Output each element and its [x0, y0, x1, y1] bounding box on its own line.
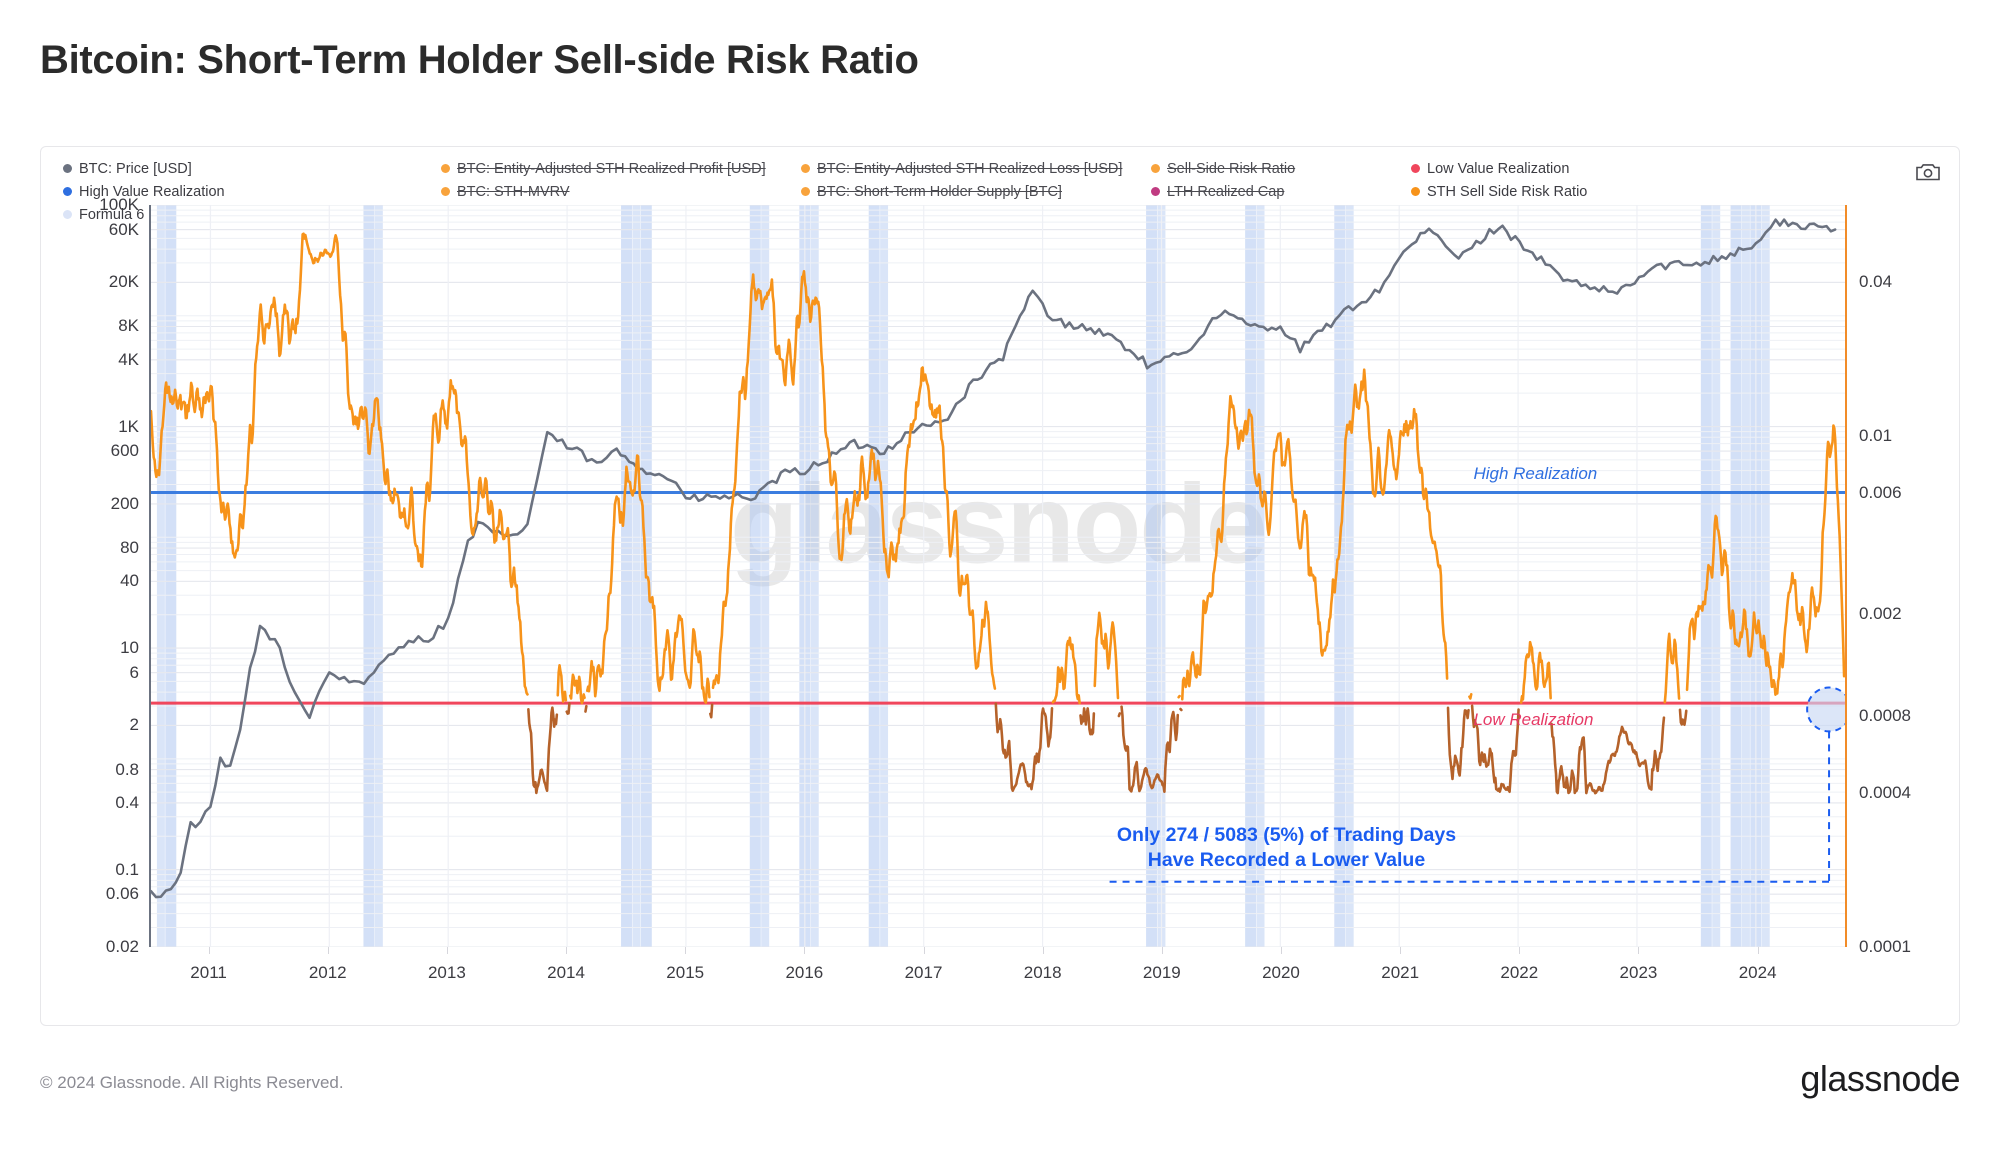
- x-axis-tick-mark: [924, 947, 925, 954]
- x-axis-tick: 2013: [428, 963, 466, 983]
- chart-page: Bitcoin: Short-Term Holder Sell-side Ris…: [0, 0, 2000, 1152]
- x-axis-tick: 2019: [1143, 963, 1181, 983]
- y-axis-right-tick: 0.006: [1859, 483, 1902, 503]
- highlight-band: [1245, 205, 1256, 947]
- y-axis-left-tick: 0.06: [106, 884, 139, 904]
- y-axis-left-tick: 200: [111, 494, 139, 514]
- chart-card: BTC: Price [USD]High Value RealizationFo…: [40, 146, 1960, 1026]
- y-axis-right-tick: 0.0004: [1859, 783, 1911, 803]
- x-axis-tick: 2015: [666, 963, 704, 983]
- x-axis-tick: 2012: [309, 963, 347, 983]
- plot-area: glassnode 100K60K20K8K4K1K60020080401062…: [149, 205, 1847, 947]
- y-axis-left-tick: 0.4: [115, 793, 139, 813]
- legend-swatch-icon: [63, 187, 72, 196]
- highlight-band: [1146, 205, 1157, 947]
- legend-item[interactable]: STH Sell Side Risk Ratio: [1411, 180, 1587, 203]
- x-axis-tick-mark: [1400, 947, 1401, 954]
- legend-swatch-icon: [441, 164, 450, 173]
- x-axis-tick: 2021: [1381, 963, 1419, 983]
- y-axis-left-tick: 1K: [118, 417, 139, 437]
- y-axis-left-tick: 0.8: [115, 760, 139, 780]
- x-axis-tick-mark: [1638, 947, 1639, 954]
- y-axis-left-tick: 6: [130, 663, 139, 683]
- x-axis-tick: 2022: [1500, 963, 1538, 983]
- footer-copyright: © 2024 Glassnode. All Rights Reserved.: [40, 1073, 344, 1093]
- legend-item[interactable]: BTC: Short-Term Holder Supply [BTC]: [801, 180, 1122, 203]
- legend-item[interactable]: LTH Realized Cap: [1151, 180, 1295, 203]
- legend-swatch-icon: [63, 164, 72, 173]
- y-axis-left-tick: 20K: [109, 272, 139, 292]
- highlight-band: [363, 205, 374, 947]
- legend-item-label: Sell-Side Risk Ratio: [1167, 161, 1295, 177]
- highlight-band: [880, 205, 888, 947]
- legend-item[interactable]: High Value Realization: [63, 180, 225, 203]
- latest-value-marker: [1807, 688, 1845, 732]
- x-axis-tick-mark: [1281, 947, 1282, 954]
- x-axis-tick-mark: [685, 947, 686, 954]
- x-axis-tick: 2023: [1620, 963, 1658, 983]
- x-axis-tick-mark: [1519, 947, 1520, 954]
- y-axis-right-tick: 0.04: [1859, 272, 1892, 292]
- x-axis-tick: 2018: [1024, 963, 1062, 983]
- legend-swatch-icon: [1411, 164, 1420, 173]
- legend-item[interactable]: BTC: Entity-Adjusted STH Realized Profit…: [441, 157, 766, 180]
- y-axis-right-tick: 0.01: [1859, 426, 1892, 446]
- page-title: Bitcoin: Short-Term Holder Sell-side Ris…: [40, 38, 919, 83]
- legend-swatch-icon: [801, 164, 810, 173]
- legend-item-label: Low Value Realization: [1427, 161, 1569, 177]
- y-axis-left-tick: 0.02: [106, 937, 139, 957]
- chart-legend: BTC: Price [USD]High Value RealizationFo…: [41, 147, 1959, 203]
- legend-item-label: BTC: Short-Term Holder Supply [BTC]: [817, 184, 1062, 200]
- legend-swatch-icon: [441, 187, 450, 196]
- legend-item[interactable]: BTC: STH-MVRV: [441, 180, 766, 203]
- x-axis-tick: 2024: [1739, 963, 1777, 983]
- legend-item[interactable]: Sell-Side Risk Ratio: [1151, 157, 1295, 180]
- x-axis-tick: 2014: [547, 963, 585, 983]
- camera-icon[interactable]: [1915, 161, 1941, 183]
- legend-item-label: STH Sell Side Risk Ratio: [1427, 184, 1587, 200]
- x-axis-tick-mark: [1162, 947, 1163, 954]
- highlight-band: [761, 205, 769, 947]
- legend-swatch-icon: [801, 187, 810, 196]
- chart-svg: [151, 205, 1845, 947]
- y-axis-left-tick: 40: [120, 571, 139, 591]
- legend-item[interactable]: BTC: Price [USD]: [63, 157, 225, 180]
- legend-item[interactable]: BTC: Entity-Adjusted STH Realized Loss […: [801, 157, 1122, 180]
- legend-swatch-icon: [1151, 187, 1160, 196]
- highlight-band: [1762, 205, 1770, 947]
- x-axis-tick-mark: [447, 947, 448, 954]
- highlight-band: [165, 205, 176, 947]
- y-axis-left-tick: 60K: [109, 220, 139, 240]
- legend-item-label: BTC: STH-MVRV: [457, 184, 570, 200]
- x-axis-tick: 2011: [190, 963, 227, 983]
- y-axis-left-tick: 600: [111, 441, 139, 461]
- y-axis-left-tick: 4K: [118, 350, 139, 370]
- x-axis-tick-mark: [804, 947, 805, 954]
- highlight-band: [157, 205, 165, 947]
- series-sth-risk-ratio: [151, 234, 1844, 703]
- y-axis-right-tick: 0.0008: [1859, 706, 1911, 726]
- highlight-band: [621, 205, 632, 947]
- y-axis-left-tick: 0.1: [115, 860, 139, 880]
- highlight-band: [632, 205, 640, 947]
- y-axis-right-tick: 0.002: [1859, 604, 1902, 624]
- glassnode-logo: glassnode: [1800, 1058, 1960, 1100]
- y-axis-left-tick: 100K: [99, 195, 139, 215]
- highlight-band: [1742, 205, 1750, 947]
- y-axis-left-tick: 10: [120, 638, 139, 658]
- y-axis-right-tick: 0.0001: [1859, 937, 1911, 957]
- series-sth-risk-ratio-low: [528, 703, 1845, 793]
- x-axis-tick-mark: [1758, 947, 1759, 954]
- highlight-band: [1731, 205, 1742, 947]
- plot-canvas: glassnode: [149, 205, 1847, 947]
- x-axis-tick: 2020: [1262, 963, 1300, 983]
- x-axis-tick-mark: [209, 947, 210, 954]
- legend-item-label: LTH Realized Cap: [1167, 184, 1284, 200]
- legend-swatch-icon: [1411, 187, 1420, 196]
- legend-item-label: BTC: Entity-Adjusted STH Realized Loss […: [817, 161, 1122, 177]
- highlight-band: [375, 205, 383, 947]
- x-axis-tick: 2016: [785, 963, 823, 983]
- legend-item-label: BTC: Entity-Adjusted STH Realized Profit…: [457, 161, 766, 177]
- y-axis-left-tick: 8K: [118, 316, 139, 336]
- x-axis-tick-mark: [328, 947, 329, 954]
- y-axis-left-tick: 80: [120, 538, 139, 558]
- legend-swatch-icon: [63, 210, 72, 219]
- legend-item-label: BTC: Price [USD]: [79, 161, 192, 177]
- highlight-band: [1346, 205, 1354, 947]
- y-axis-left-tick: 2: [130, 715, 139, 735]
- x-axis-tick: 2017: [905, 963, 943, 983]
- legend-item[interactable]: Low Value Realization: [1411, 157, 1587, 180]
- highlight-band: [1257, 205, 1265, 947]
- legend-swatch-icon: [1151, 164, 1160, 173]
- highlight-band: [869, 205, 880, 947]
- x-axis-tick-mark: [566, 947, 567, 954]
- x-axis-tick-mark: [1043, 947, 1044, 954]
